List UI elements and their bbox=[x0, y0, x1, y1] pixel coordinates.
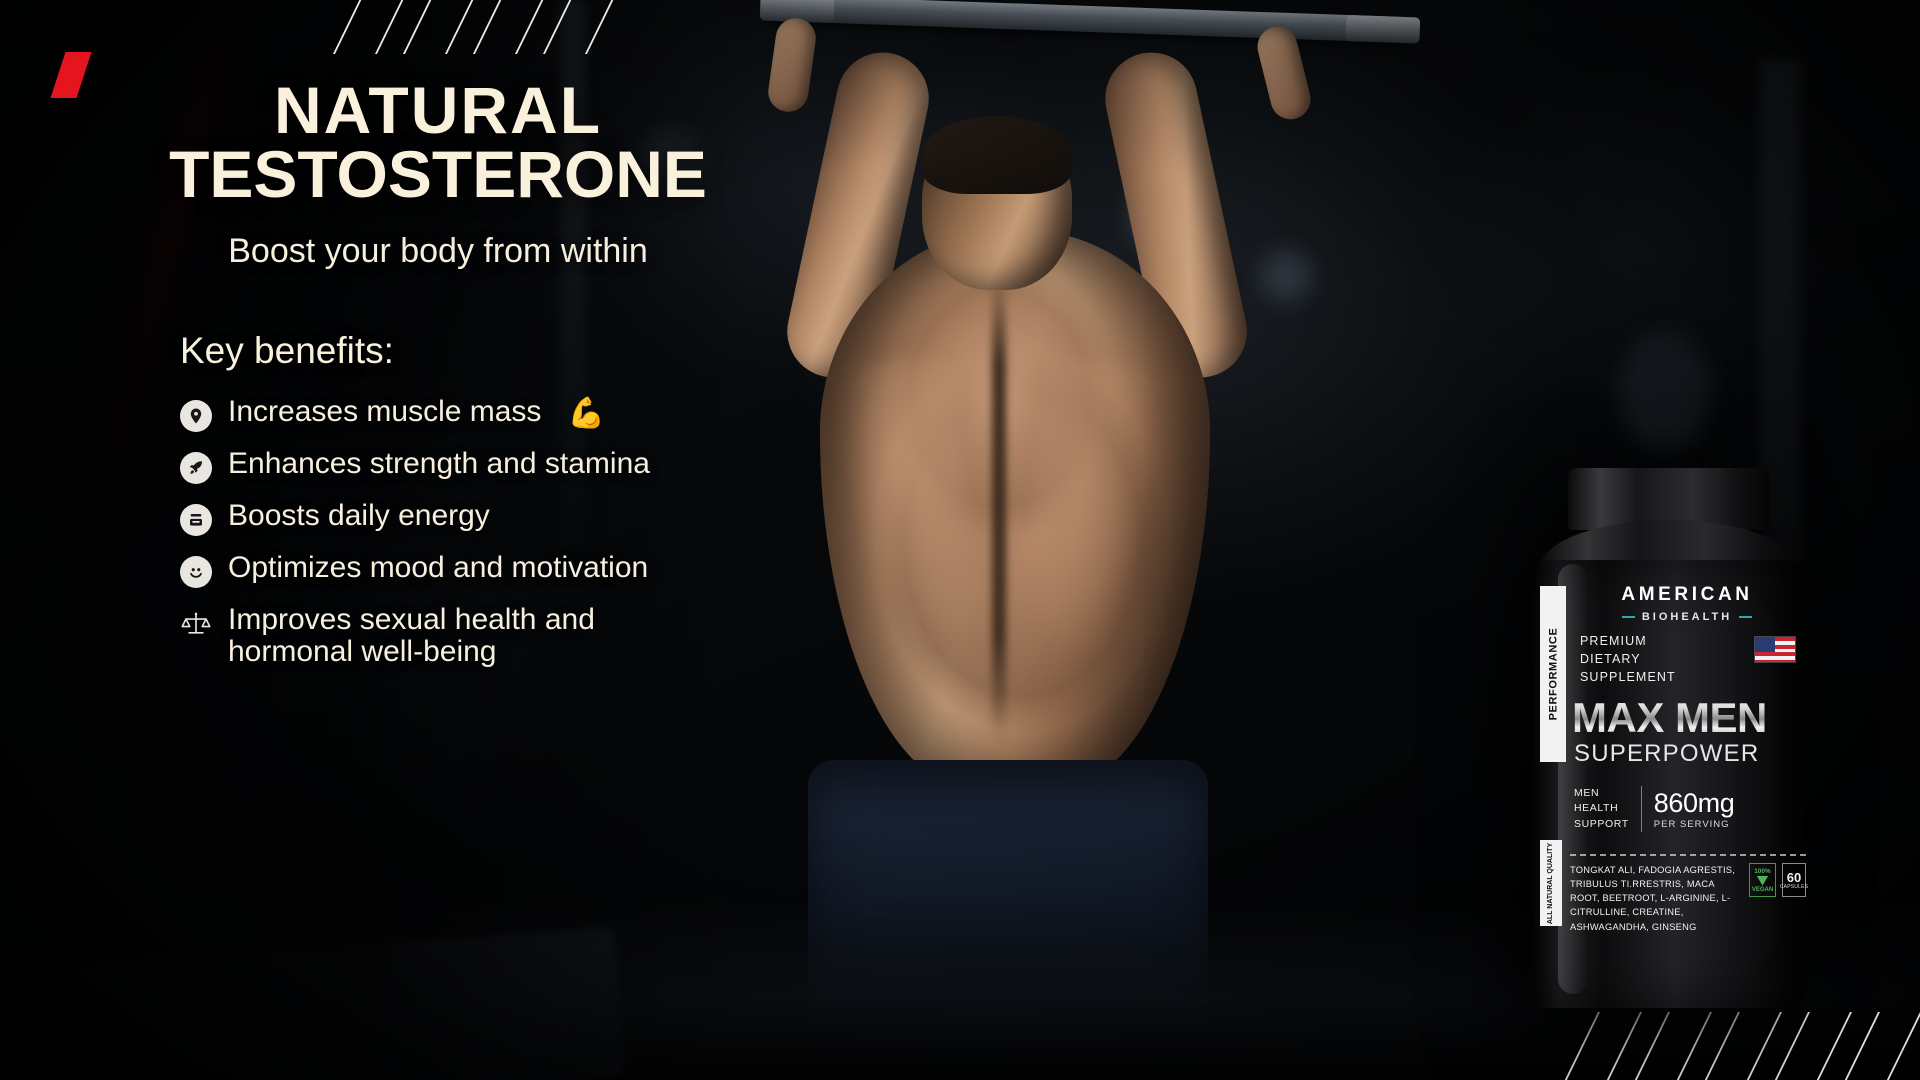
ingredients-list: TONGKAT ALI, FADOGIA AGRESTIS, TRIBULUS … bbox=[1570, 863, 1743, 934]
list-item: Increases muscle mass 💪 bbox=[180, 396, 700, 432]
capsule-count: 60 bbox=[1787, 871, 1801, 884]
athlete-spine-shadow bbox=[992, 270, 1006, 740]
location-pin-icon bbox=[180, 400, 212, 432]
men-health-support-text: MEN HEALTH SUPPORT bbox=[1574, 786, 1629, 832]
battery-energy-icon bbox=[180, 504, 212, 536]
page-title: NATURAL TESTOSTERONE bbox=[168, 78, 708, 206]
product-bottle[interactable]: PERFORMANCE ALL NATURAL QUALITY AMERICAN… bbox=[1524, 468, 1814, 1028]
list-item: Enhances strength and stamina bbox=[180, 448, 700, 484]
list-item: Optimizes mood and motivation bbox=[180, 552, 700, 588]
dose-block: 860mg PER SERVING bbox=[1654, 788, 1735, 830]
bg-bokeh-light bbox=[1620, 330, 1710, 450]
brand-subname-row: BIOHEALTH bbox=[1576, 611, 1798, 623]
athlete-hair bbox=[922, 116, 1072, 194]
list-item: Improves sexual health and hormonal well… bbox=[180, 604, 700, 669]
brand-subname: BIOHEALTH bbox=[1642, 611, 1732, 623]
headline-line-2: TESTOSTERONE bbox=[168, 142, 708, 206]
headline-line-1: NATURAL bbox=[168, 78, 708, 142]
benefit-label: Improves sexual health and hormonal well… bbox=[228, 604, 700, 669]
quality-side-label: ALL NATURAL QUALITY bbox=[1548, 842, 1555, 923]
premium-dietary-supplement-text: PREMIUM DIETARY SUPPLEMENT bbox=[1580, 632, 1676, 686]
benefit-label: Boosts daily energy bbox=[228, 500, 490, 532]
dose-divider bbox=[1641, 786, 1642, 832]
performance-side-label: PERFORMANCE bbox=[1547, 628, 1559, 721]
quality-side-tab: ALL NATURAL QUALITY bbox=[1540, 840, 1562, 926]
ingredients-row: TONGKAT ALI, FADOGIA AGRESTIS, TRIBULUS … bbox=[1570, 854, 1806, 934]
smiley-face-icon bbox=[180, 556, 212, 588]
benefits-list: Increases muscle mass 💪 Enhances strengt… bbox=[180, 396, 700, 685]
performance-side-tab: PERFORMANCE bbox=[1540, 586, 1566, 762]
brand-name: AMERICAN bbox=[1576, 584, 1798, 606]
product-tagline: SUPERPOWER bbox=[1574, 740, 1759, 768]
vegan-badge: 100% VEGAN bbox=[1749, 863, 1776, 897]
leaf-icon bbox=[1757, 876, 1769, 886]
benefit-label: Optimizes mood and motivation bbox=[228, 552, 648, 584]
product-name: MAX MEN bbox=[1572, 694, 1800, 742]
flexed-biceps-emoji: 💪 bbox=[567, 396, 604, 431]
vegan-badge-label: VEGAN bbox=[1752, 887, 1773, 893]
benefits-heading: Key benefits: bbox=[180, 330, 394, 372]
balance-scales-icon bbox=[180, 608, 212, 640]
vegan-badge-percent: 100% bbox=[1754, 868, 1771, 875]
brand-dash-right bbox=[1739, 616, 1752, 618]
bottle-brand-block: AMERICAN BIOHEALTH bbox=[1576, 584, 1798, 623]
capsule-count-label: CAPSULES bbox=[1780, 884, 1808, 890]
benefit-label: Enhances strength and stamina bbox=[228, 448, 650, 480]
subheadline: Boost your body from within bbox=[168, 232, 708, 271]
list-item: Boosts daily energy bbox=[180, 500, 700, 536]
dose-note: PER SERVING bbox=[1654, 819, 1735, 830]
capsule-count-badge: 60 CAPSULES bbox=[1782, 863, 1806, 897]
dose-amount: 860mg bbox=[1654, 788, 1735, 819]
brand-dash-left bbox=[1622, 616, 1635, 618]
dosage-row: MEN HEALTH SUPPORT 860mg PER SERVING bbox=[1574, 786, 1798, 832]
rocket-icon bbox=[180, 452, 212, 484]
advertisement-banner: NATURAL TESTOSTERONE Boost your body fro… bbox=[0, 0, 1920, 1080]
benefit-label: Increases muscle mass bbox=[228, 396, 541, 428]
copy-block: NATURAL TESTOSTERONE Boost your body fro… bbox=[0, 0, 720, 1080]
barbell-sleeve-right bbox=[1345, 15, 1420, 44]
usa-flag-icon bbox=[1754, 636, 1796, 663]
